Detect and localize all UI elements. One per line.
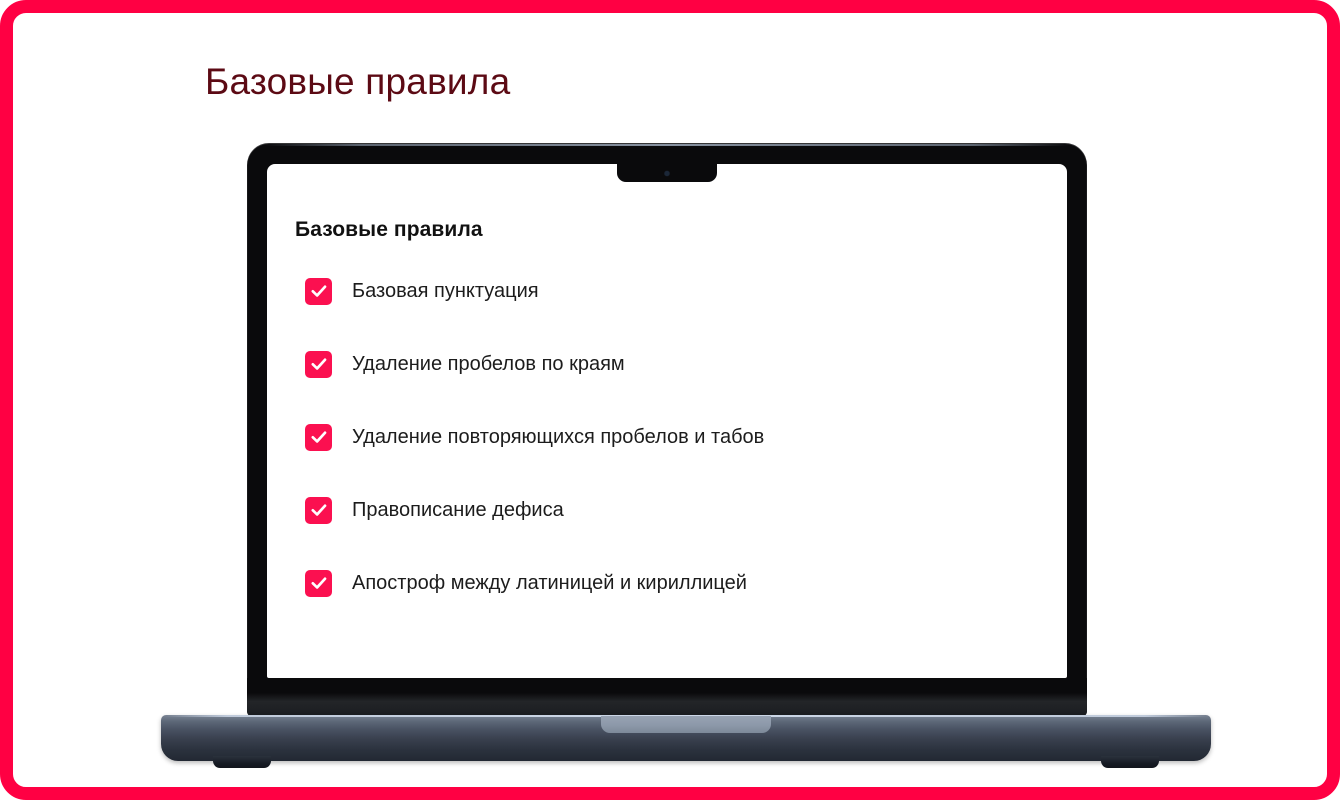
list-item[interactable]: Правописание дефиса: [295, 485, 1067, 535]
rules-list: Базовая пунктуация Удаление пробелов по …: [295, 266, 1067, 608]
laptop-mockup: Базовые правила Базовая пунктуация: [161, 143, 1211, 768]
list-item-label: Базовая пунктуация: [352, 281, 539, 301]
checkmark-icon[interactable]: [305, 570, 332, 597]
page-title: Базовые правила: [205, 61, 510, 103]
rules-section-heading: Базовые правила: [295, 218, 1067, 242]
laptop-foot-right: [1101, 756, 1159, 768]
checkmark-icon[interactable]: [305, 351, 332, 378]
list-item-label: Правописание дефиса: [352, 500, 564, 520]
laptop-screen: Базовые правила Базовая пунктуация: [267, 164, 1067, 678]
camera-dot-icon: [665, 171, 670, 176]
base-front-notch: [601, 716, 771, 733]
list-item-label: Апостроф между латиницей и кириллицей: [352, 573, 747, 593]
list-item-label: Удаление повторяющихся пробелов и табов: [352, 427, 764, 447]
checkmark-icon[interactable]: [305, 424, 332, 451]
list-item-label: Удаление пробелов по краям: [352, 354, 625, 374]
laptop-base: [161, 715, 1211, 761]
camera-notch: [617, 164, 717, 182]
laptop-foot-left: [213, 756, 271, 768]
list-item[interactable]: Базовая пунктуация: [295, 266, 1067, 316]
slide-canvas: Базовые правила Базовые правила: [0, 0, 1340, 800]
laptop-chin: [247, 678, 1087, 717]
screen-page: Базовые правила Базовая пунктуация: [267, 164, 1067, 678]
laptop-lid: Базовые правила Базовая пунктуация: [247, 143, 1087, 717]
checkmark-icon[interactable]: [305, 278, 332, 305]
list-item[interactable]: Удаление пробелов по краям: [295, 339, 1067, 389]
list-item[interactable]: Удаление повторяющихся пробелов и табов: [295, 412, 1067, 462]
checkmark-icon[interactable]: [305, 497, 332, 524]
list-item[interactable]: Апостроф между латиницей и кириллицей: [295, 558, 1067, 608]
lid-top-highlight: [265, 144, 1069, 146]
